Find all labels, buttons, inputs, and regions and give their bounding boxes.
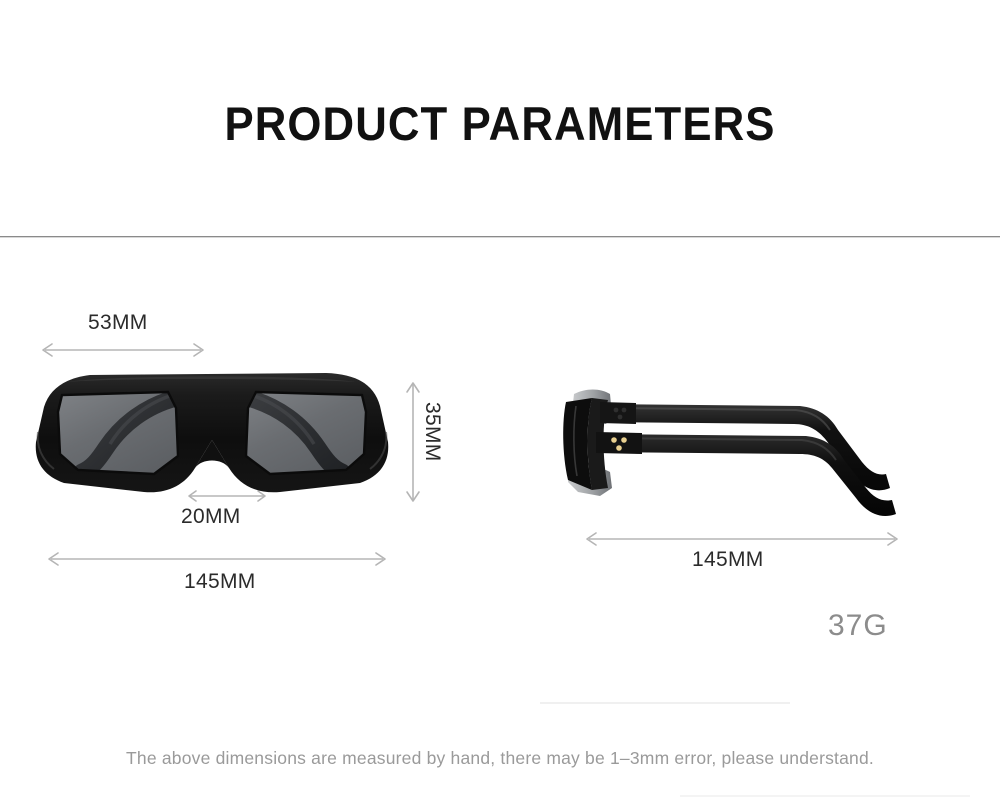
weight-label: 37G <box>828 609 888 643</box>
dimension-label-bridge-width: 20MM <box>181 505 241 529</box>
page-title: PRODUCT PARAMETERS <box>35 96 965 151</box>
dimension-arrow-bridge-width <box>184 486 270 506</box>
faint-rule-lower <box>680 795 970 797</box>
lens-left <box>58 392 178 474</box>
temple-arm-lower <box>596 432 896 516</box>
dimension-label-lens-height: 35MM <box>420 402 444 462</box>
dimension-label-lens-width: 53MM <box>88 311 148 335</box>
dimension-label-frame-width: 145MM <box>184 570 256 594</box>
sunglasses-side-view <box>556 372 914 518</box>
dimension-arrow-frame-width <box>44 548 390 570</box>
product-parameters-page: PRODUCT PARAMETERS 53MM <box>0 0 1000 810</box>
dimension-label-temple-length: 145MM <box>692 548 764 572</box>
lens-right <box>246 392 366 474</box>
footer-note: The above dimensions are measured by han… <box>0 748 1000 769</box>
dimension-arrow-temple-length <box>582 528 902 550</box>
header-divider-shadow <box>0 237 1000 238</box>
dimension-arrow-lens-width <box>38 338 208 362</box>
faint-rule-upper <box>540 702 790 704</box>
